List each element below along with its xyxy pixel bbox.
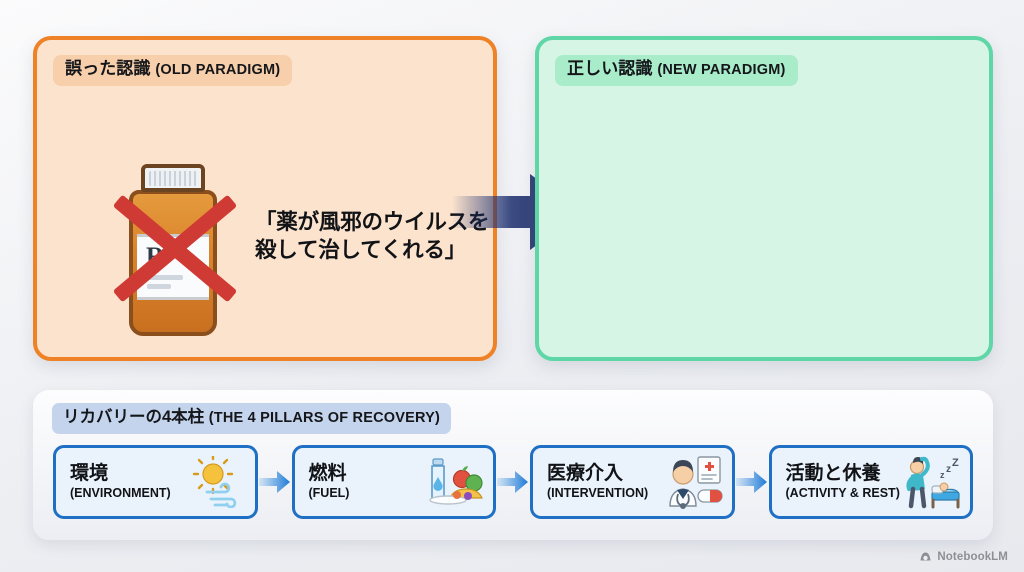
pillar-card-environment[interactable]: 環境 (ENVIRONMENT) [53, 445, 258, 519]
svg-text:z: z [940, 470, 945, 480]
pillar-card-fuel-texts: 燃料 (FUEL) [309, 463, 350, 502]
pillar-label-en: (ACTIVITY & REST) [786, 486, 900, 502]
old-paradigm-title-ja: 誤った認識 [65, 59, 151, 78]
pillar-label-ja: 燃料 [309, 463, 350, 484]
svg-text:z: z [946, 464, 951, 475]
pillar-card-activity-rest-texts: 活動と休養 (ACTIVITY & REST) [786, 463, 900, 502]
pillar-card-intervention[interactable]: 医療介入 (INTERVENTION) [530, 445, 735, 519]
notebooklm-watermark: NotebookLM [919, 550, 1008, 563]
right-arrow-icon [736, 469, 768, 495]
pillar-card-environment-texts: 環境 (ENVIRONMENT) [70, 463, 171, 502]
stretching-person [908, 457, 927, 506]
recovery-pillars-panel: リカバリーの4本柱 (THE 4 PILLARS OF RECOVERY) 環境… [33, 390, 993, 540]
pillar-card-fuel[interactable]: 燃料 (FUEL) [292, 445, 497, 519]
old-paradigm-title-en: (OLD PARADIGM) [155, 62, 280, 78]
medical-chart [698, 457, 720, 483]
water-vegetables-icon [423, 452, 485, 512]
stretch-bed-icon: z z Z [900, 452, 962, 512]
right-arrow-icon [497, 469, 529, 495]
pill [698, 490, 722, 502]
svg-text:Z: Z [952, 457, 959, 469]
pillar-flow-arrow-3 [735, 462, 769, 502]
pillars-title: リカバリーの4本柱 (THE 4 PILLARS OF RECOVERY) [52, 403, 451, 434]
pillar-flow-arrow-2 [496, 462, 530, 502]
pillar-card-intervention-texts: 医療介入 (INTERVENTION) [547, 463, 648, 502]
notebooklm-watermark-label: NotebookLM [937, 551, 1008, 563]
pillar-card-activity-rest[interactable]: 活動と休養 (ACTIVITY & REST) [769, 445, 974, 519]
bed [932, 483, 959, 507]
pillar-label-ja: 環境 [70, 463, 171, 484]
doctor [670, 460, 696, 509]
sun-wind-icon [185, 452, 247, 512]
pillar-label-en: (ENVIRONMENT) [70, 486, 171, 502]
notebooklm-logo-icon [919, 550, 932, 563]
new-paradigm-panel: 正しい認識 (NEW PARADIGM) [535, 36, 993, 361]
doctor-pill-icon [662, 452, 724, 512]
crossed-out-pill-bottle-icon: R [115, 162, 235, 340]
old-paradigm-title: 誤った認識 (OLD PARADIGM) [53, 55, 292, 86]
pillars-title-ja: リカバリーの4本柱 [63, 408, 204, 426]
red-cross-out-icon [107, 186, 243, 310]
new-paradigm-title-en: (NEW PARADIGM) [657, 62, 785, 78]
infographic-canvas: 誤った認識 (OLD PARADIGM) R 「薬が風邪のウイルスを殺して治して… [0, 0, 1024, 572]
pillar-label-ja: 医療介入 [547, 463, 648, 484]
pillars-card-row: 環境 (ENVIRONMENT) [53, 443, 973, 521]
pillar-label-ja: 活動と休養 [786, 463, 900, 484]
pillar-flow-arrow-1 [258, 462, 292, 502]
pillar-label-en: (INTERVENTION) [547, 486, 648, 502]
new-paradigm-title: 正しい認識 (NEW PARADIGM) [555, 55, 798, 86]
pillars-title-en: (THE 4 PILLARS OF RECOVERY) [209, 410, 440, 426]
right-arrow-icon [259, 469, 291, 495]
new-paradigm-title-ja: 正しい認識 [567, 59, 653, 78]
pillar-label-en: (FUEL) [309, 486, 350, 502]
old-paradigm-panel: 誤った認識 (OLD PARADIGM) R 「薬が風邪のウイルスを殺して治して… [33, 36, 497, 361]
